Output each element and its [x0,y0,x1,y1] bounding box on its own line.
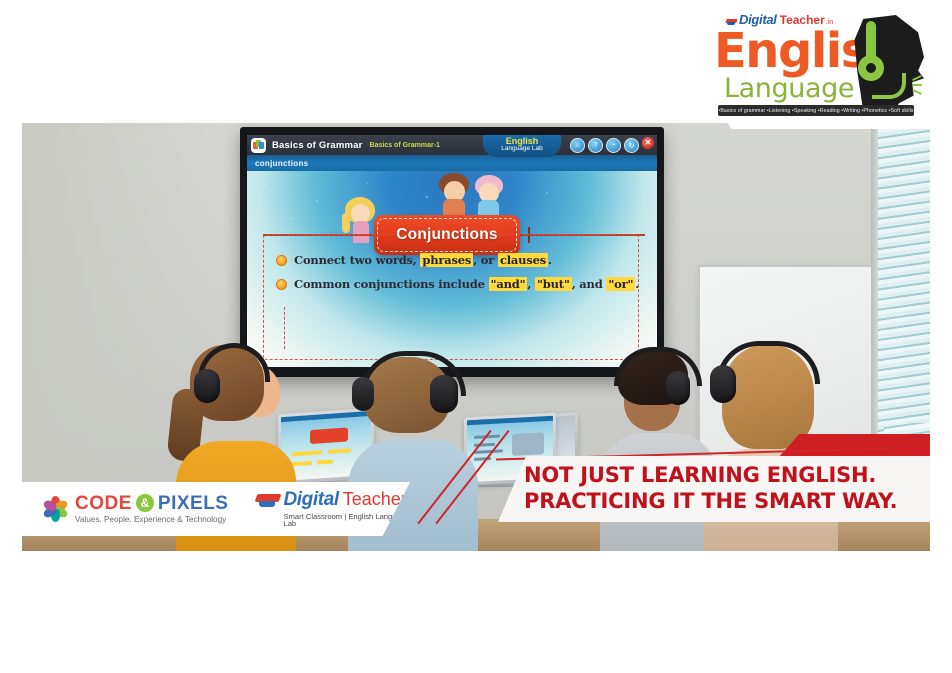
pixels-label: PIXELS [158,494,229,513]
window-frame [871,123,878,453]
headset-head-icon [850,15,924,111]
app-titlebar: Basics of Grammar Basics of Grammar-1 En… [247,135,657,155]
bullet-dot-icon [276,255,287,266]
bullet-text: Common conjunctions include "and", "but"… [294,277,639,291]
app-title: Basics of Grammar [272,140,363,151]
refresh-icon[interactable]: ↻ [624,138,639,153]
tagline-sheet: NOT JUST LEARNING ENGLISH. PRACTICING IT… [498,456,930,522]
bullet-text: Connect two words, phrases, or clauses. [294,253,552,267]
graduation-cap-icon [256,492,280,510]
features-strip-text: •Basics of grammar •Listening •Speaking … [718,108,913,114]
tagline-banner: NOT JUST LEARNING ENGLISH. PRACTICING IT… [496,434,930,524]
clock-icon[interactable]: ◔ [606,138,621,153]
display-screen: Basics of Grammar Basics of Grammar-1 En… [247,135,657,367]
slide-content-box: Connect two words, phrases, or clauses. … [263,234,639,360]
ampersand-badge: & [136,494,154,512]
bullet-connector [284,307,287,349]
bullet-dot-icon [276,279,287,290]
slide-bullet: Common conjunctions include "and", "but"… [276,277,628,291]
digital-label: Digital [283,490,338,510]
close-icon[interactable]: ✕ [642,137,654,149]
lesson-stage: Conjunctions Connect two words, phrases,… [247,171,657,367]
ell-badge: English Language Lab [483,135,561,157]
breadcrumb: conjunctions [247,155,657,171]
english-language-lab-logo: Digital Teacher .in English Language Lab… [688,1,930,129]
code-pixels-tagline: Values. People. Experience & Technology [75,516,228,524]
blocks-logo-icon [251,138,266,153]
breadcrumb-label: conjunctions [255,159,308,168]
app-subtitle: Basics of Grammar-1 [370,142,440,149]
code-label: CODE [75,494,132,513]
teacher-label: Teacher [343,490,407,509]
app-toolbar: ⌂ ? ◔ ↻ [570,138,639,153]
code-and-pixels-logo: CODE & PIXELS Values. People. Experience… [38,494,228,524]
tagline-line-2: PRACTICING IT THE SMART WAY. [524,489,930,515]
brand-bar: CODE & PIXELS Values. People. Experience… [20,482,410,536]
tagline-line-1: NOT JUST LEARNING ENGLISH. [524,463,930,489]
pinwheel-icon [38,494,68,524]
interactive-display: Basics of Grammar Basics of Grammar-1 En… [240,127,664,377]
features-strip: •Basics of grammar •Listening •Speaking … [718,105,914,116]
help-icon[interactable]: ? [588,138,603,153]
window-blinds [878,123,930,453]
slide-bullet: Connect two words, phrases, or clauses. [276,253,628,267]
ell-badge-line2: Language Lab [501,146,543,153]
slide-title: Conjunctions [396,226,497,244]
home-icon[interactable]: ⌂ [570,138,585,153]
